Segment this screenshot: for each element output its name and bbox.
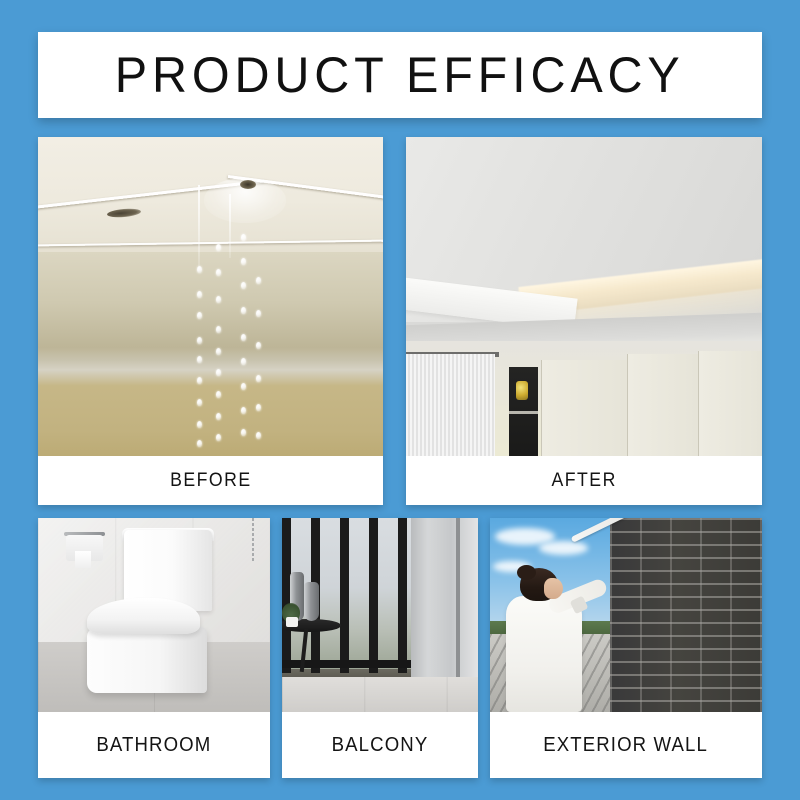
exterior-wall-caption-label: EXTERIOR WALL xyxy=(544,734,709,757)
product-efficacy-poster: PRODUCT EFFICACY xyxy=(0,0,800,800)
sheer-curtain xyxy=(406,354,495,456)
brick-wall xyxy=(610,518,762,712)
door-frame xyxy=(456,518,460,681)
bathroom-caption: BATHROOM xyxy=(38,712,270,778)
bathroom-card: BATHROOM xyxy=(38,518,270,778)
before-card: BEFORE xyxy=(38,137,383,505)
niche-shelf xyxy=(509,411,537,414)
clean-ceiling-photo xyxy=(406,137,762,456)
exterior-wall-card: EXTERIOR WALL xyxy=(490,518,762,778)
toilet-bowl xyxy=(87,627,208,693)
plant-pot xyxy=(286,617,298,627)
after-caption: AFTER xyxy=(406,456,762,505)
bathroom-photo xyxy=(38,518,270,712)
cloud xyxy=(539,541,588,555)
after-caption-label: AFTER xyxy=(551,470,616,492)
cabinet-panel xyxy=(541,360,626,456)
hanging-chain xyxy=(252,518,254,561)
leaking-ceiling-photo xyxy=(38,137,383,456)
before-caption: BEFORE xyxy=(38,456,383,505)
glass-door xyxy=(411,518,478,681)
cabinet-panel xyxy=(698,351,762,456)
water-stream xyxy=(229,194,231,258)
exterior-wall-photo xyxy=(490,518,762,712)
balcony-card: BALCONY xyxy=(282,518,478,778)
person-body xyxy=(506,596,582,712)
balcony-photo xyxy=(282,518,478,712)
gold-ornament xyxy=(516,381,527,400)
balcony-floor xyxy=(282,677,478,712)
cabinet-panel xyxy=(627,354,698,456)
water-drip-column xyxy=(214,185,224,456)
before-caption-label: BEFORE xyxy=(170,470,252,492)
bathroom-caption-label: BATHROOM xyxy=(96,734,211,757)
balcony-caption: BALCONY xyxy=(282,712,478,778)
exterior-wall-caption: EXTERIOR WALL xyxy=(490,712,762,778)
title-banner: PRODUCT EFFICACY xyxy=(38,32,762,118)
metal-vase xyxy=(304,582,320,621)
water-drip-column xyxy=(254,185,264,456)
water-drip-column xyxy=(238,185,248,456)
water-drip-column xyxy=(195,185,205,456)
balcony-caption-label: BALCONY xyxy=(332,734,429,757)
page-title: PRODUCT EFFICACY xyxy=(115,50,685,100)
after-card: AFTER xyxy=(406,137,762,505)
toilet-paper-sheet xyxy=(75,551,91,568)
hair-bun xyxy=(517,565,536,581)
